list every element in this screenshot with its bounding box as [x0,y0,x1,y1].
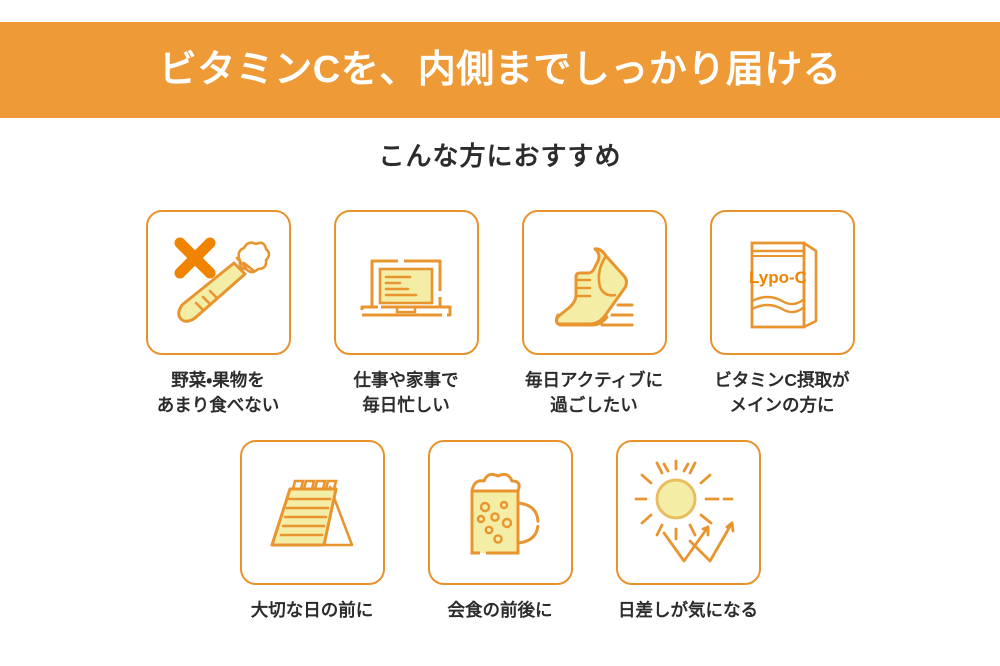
card-label-line1: 毎日アクティブに [525,370,663,390]
section-subtitle: こんな方におすすめ [0,143,1000,169]
carrot-no-vegetables-icon [162,227,274,339]
desk-calendar-icon [256,457,368,569]
card-label-line1: 大切な日の前に [251,600,374,620]
sun-uv-rays-icon [632,457,744,569]
recommendation-card: 野菜・果物を あまり食べない [146,210,291,419]
card-label-line2: 毎日忙しい [354,393,459,418]
card-label: 会食の前後に [448,598,553,623]
card-label-line1: 会食の前後に [448,600,553,620]
icon-frame [616,440,761,585]
card-label: 毎日アクティブに 過ごしたい [525,368,663,419]
icon-frame: Lypo-C [710,210,855,355]
icon-frame [428,440,573,585]
card-label: 大切な日の前に [251,598,374,623]
icon-frame [522,210,667,355]
header-banner: ビタミンCを、内側までしっかり届ける [0,22,1000,118]
recommendation-card: 毎日アクティブに 過ごしたい [522,210,667,419]
icon-frame [334,210,479,355]
card-label-line1: ビタミンC摂取が [714,370,849,390]
package-brand-text: Lypo-C [749,268,807,287]
laptop-busy-work-icon [350,227,462,339]
card-label-line1: 野菜・果物を [171,370,264,390]
card-label-line2: あまり食べない [157,393,280,418]
card-label: 日差しが気になる [618,598,758,623]
recommendation-card: 会食の前後に [428,440,573,623]
running-shoe-icon [538,227,650,339]
card-label: 仕事や家事で 毎日忙しい [354,368,459,419]
recommendation-card: 日差しが気になる [616,440,761,623]
card-label-line1: 仕事や家事で [354,370,459,390]
card-label: 野菜・果物を あまり食べない [157,368,280,419]
card-label: ビタミンC摂取が メインの方に [714,368,849,419]
recommendation-card-row-bottom: 大切な日の前に [0,440,1000,623]
recommendation-card-row-top: 野菜・果物を あまり食べない [0,210,1000,419]
card-label-line2: 過ごしたい [525,393,663,418]
recommendation-card: Lypo-C ビタミンC摂取が メインの方に [710,210,855,419]
icon-frame [146,210,291,355]
page-title: ビタミンCを、内側までしっかり届ける [159,51,841,89]
lypo-c-package-icon: Lypo-C [726,227,838,339]
icon-frame [240,440,385,585]
card-label-line1: 日差しが気になる [618,600,758,620]
recommendation-card: 大切な日の前に [240,440,385,623]
beer-mug-icon [444,457,556,569]
card-label-line2: メインの方に [714,393,849,418]
recommendation-card: 仕事や家事で 毎日忙しい [334,210,479,419]
